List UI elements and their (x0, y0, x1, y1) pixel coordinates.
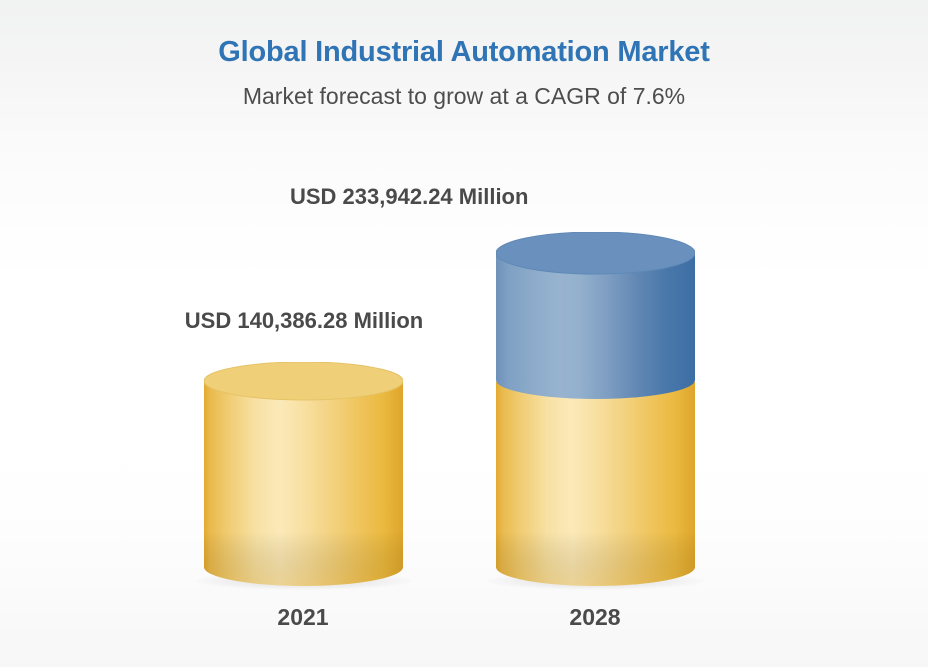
bar-2021-bottom-shade (204, 532, 403, 586)
chart-title: Global Industrial Automation Market (0, 36, 928, 69)
chart-subtitle: Market forecast to grow at a CAGR of 7.6… (0, 83, 928, 109)
data-label-2028: USD 233,942.24 Million (290, 184, 928, 210)
category-label-2021: 2021 (203, 604, 403, 631)
chart-header: Global Industrial Automation Market Mark… (0, 36, 928, 110)
category-label-2028: 2028 (495, 604, 695, 631)
chart-canvas: Global Industrial Automation Market Mark… (0, 0, 928, 667)
bar-cylinder-2021[interactable] (204, 362, 403, 586)
bar-2021-graphic (204, 362, 403, 586)
bar-cylinder-2028[interactable] (496, 232, 695, 586)
bar-2028-bottom-shade (496, 532, 695, 586)
bar-2028-blue-segment (496, 253, 695, 399)
bar-2028-graphic (496, 232, 695, 586)
